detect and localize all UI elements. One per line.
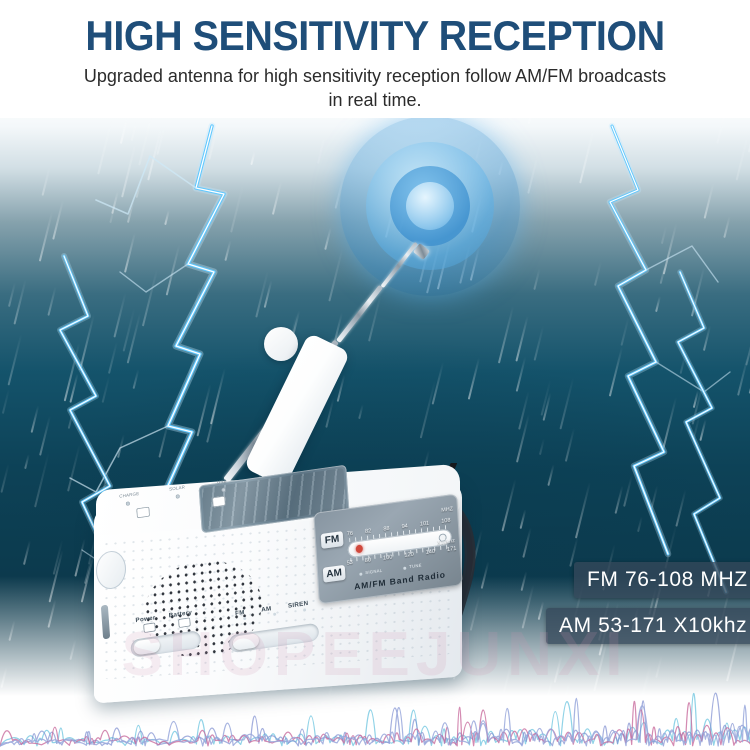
band-tag-am: AM bbox=[323, 565, 346, 583]
led-label-solar: SOLAR bbox=[169, 484, 185, 491]
antenna-segment-3 bbox=[336, 285, 383, 343]
fm-num-0: 76 bbox=[347, 531, 354, 538]
signal-indicator-dot bbox=[359, 573, 362, 576]
band-dot-am bbox=[273, 613, 276, 616]
tuning-dial-panel[interactable]: FM AM 76 82 88 94 101 108 53 80 100 120 bbox=[313, 494, 462, 605]
led-solar bbox=[176, 494, 180, 499]
am-num-3: 120 bbox=[404, 552, 414, 559]
antenna-segment-4 bbox=[380, 242, 418, 289]
tune-indicator-label: TUNE bbox=[409, 563, 422, 570]
usb-port-icon[interactable] bbox=[212, 496, 226, 508]
fm-num-5: 108 bbox=[441, 518, 451, 525]
fm-num-2: 88 bbox=[383, 526, 390, 533]
callout-fm-range: FM 76-108 MHZ bbox=[574, 562, 750, 598]
page-title: HIGH SENSITIVITY RECEPTION bbox=[23, 0, 728, 58]
band-tag-fm: FM bbox=[321, 531, 344, 549]
am-num-0: 53 bbox=[346, 560, 353, 567]
fm-unit-label: MHZ bbox=[441, 506, 453, 514]
led-label-usb: USB bbox=[217, 478, 227, 484]
fm-num-3: 94 bbox=[401, 523, 408, 530]
band-dot-siren bbox=[303, 608, 306, 611]
page-subtitle: Upgraded antenna for high sensitivity re… bbox=[75, 64, 675, 112]
tune-indicator-dot bbox=[403, 567, 406, 570]
header-block: HIGH SENSITIVITY RECEPTION Upgraded ante… bbox=[0, 0, 750, 118]
signal-indicator-label: SIGNAL bbox=[365, 568, 382, 575]
led-charge bbox=[126, 501, 130, 506]
charge-port-icon[interactable] bbox=[136, 507, 150, 519]
product-marketing-image: CHARGE SOLAR USB FM AM 76 82 88 94 101 1… bbox=[0, 0, 750, 750]
am-num-2: 100 bbox=[383, 554, 393, 561]
am-num-1: 80 bbox=[365, 557, 372, 564]
am-num-4: 140 bbox=[426, 549, 436, 556]
hand-crank-knob[interactable] bbox=[264, 327, 298, 361]
am-unit-label: X10khz bbox=[437, 538, 455, 546]
audio-waveform-graphic bbox=[0, 630, 750, 750]
fm-num-1: 82 bbox=[365, 528, 372, 535]
am-num-5: 171 bbox=[447, 546, 457, 553]
tuning-needle[interactable] bbox=[356, 544, 363, 553]
led-usb bbox=[222, 488, 226, 493]
